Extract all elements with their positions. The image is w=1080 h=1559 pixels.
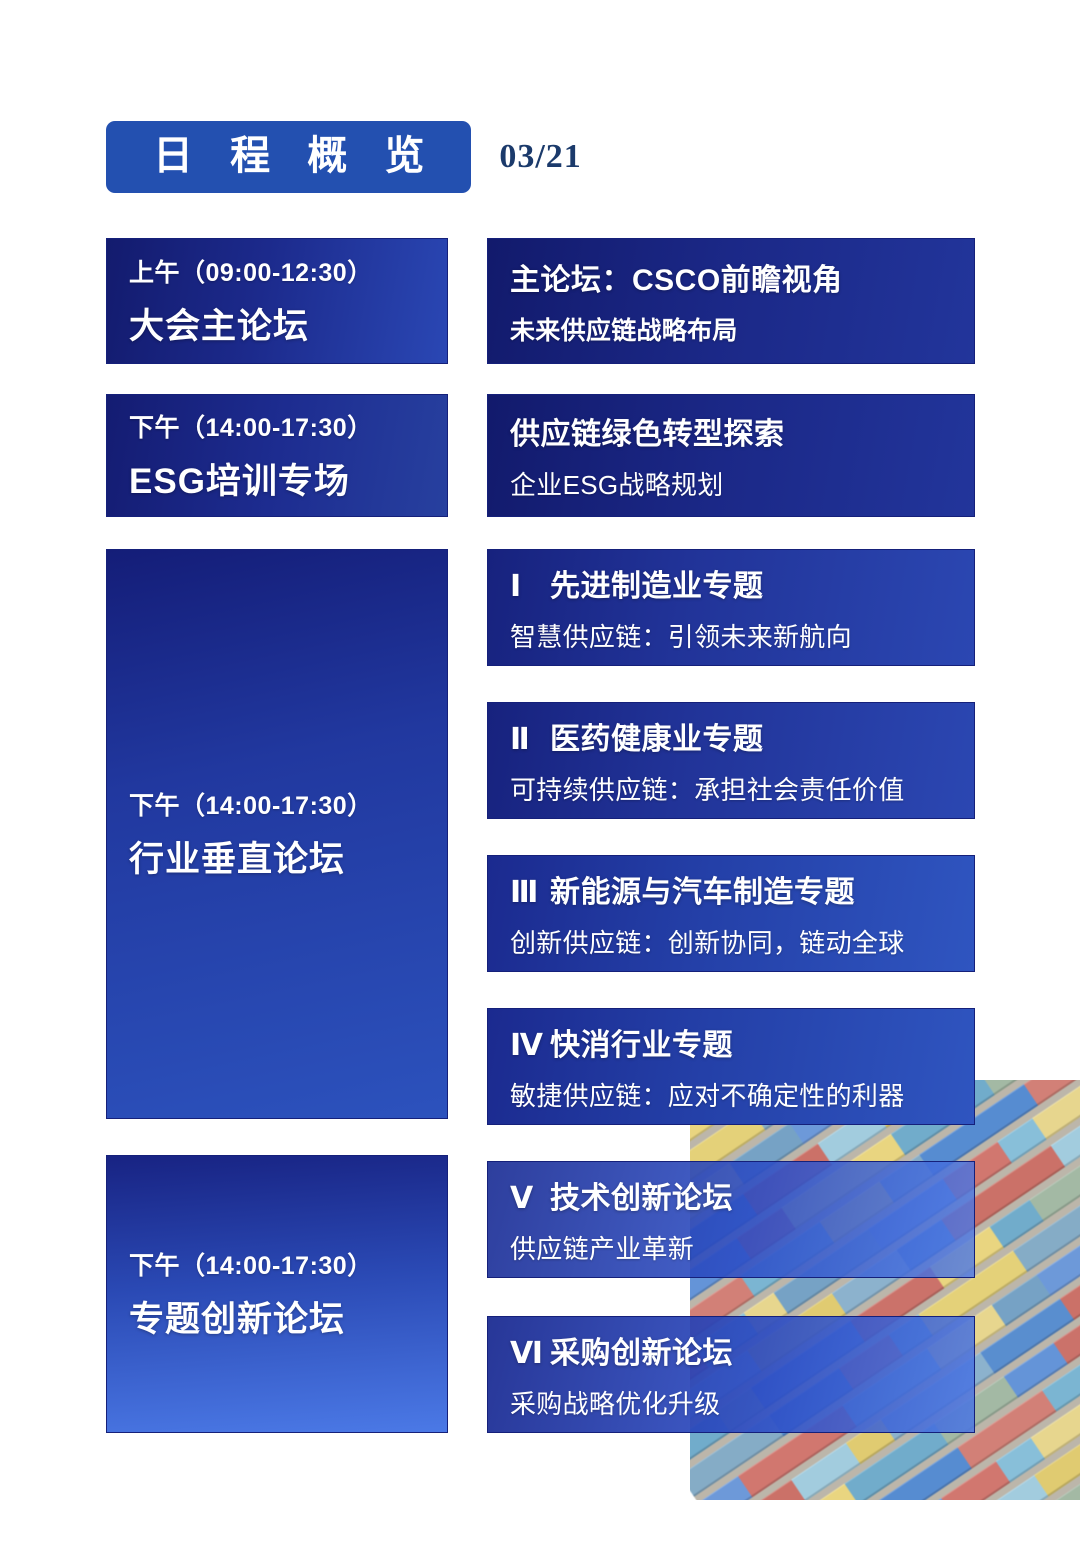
topic-title: Ⅰ先进制造业专题	[510, 561, 974, 605]
topic-title: Ⅲ新能源与汽车制造专题	[510, 867, 974, 911]
session-block-morning-main-forum[interactable]: 上午（09:00-12:30） 大会主论坛	[106, 238, 448, 364]
topic-title-text: 技术创新论坛	[550, 1182, 733, 1215]
session-time: 下午（14:00-17:30）	[129, 1246, 447, 1282]
topic-card-green-transformation[interactable]: 供应链绿色转型探索 企业ESG战略规划	[487, 394, 975, 517]
session-time: 上午（09:00-12:30）	[129, 253, 447, 289]
topic-title: Ⅳ快消行业专题	[510, 1020, 974, 1064]
topic-title: 主论坛：CSCO前瞻视角	[510, 255, 974, 299]
session-block-special-innovation-forum[interactable]: 下午（14:00-17:30） 专题创新论坛	[106, 1155, 448, 1433]
session-block-esg-training[interactable]: 下午（14:00-17:30） 行业垂直论坛 ESG培训专场	[106, 394, 448, 517]
session-time: 下午（14:00-17:30）	[129, 786, 447, 822]
topic-title: Ⅱ医药健康业专题	[510, 714, 974, 758]
topic-subtitle: 未来供应链战略布局	[510, 311, 974, 347]
topic-title-text: 快消行业专题	[550, 1029, 733, 1062]
session-name: 行业垂直论坛	[129, 831, 447, 882]
topic-subtitle: 智慧供应链：引领未来新航向	[510, 617, 974, 654]
topic-card-pharma-health[interactable]: Ⅱ医药健康业专题 可持续供应链：承担社会责任价值	[487, 702, 975, 819]
page-header: 日 程 概 览 03/21	[106, 121, 582, 193]
topic-card-fmcg[interactable]: Ⅳ快消行业专题 敏捷供应链：应对不确定性的利器	[487, 1008, 975, 1125]
topic-subtitle: 创新供应链：创新协同，链动全球	[510, 923, 974, 960]
agenda-board: 上午（09:00-12:30） 大会主论坛 下午（14:00-17:30） 行业…	[0, 0, 1080, 1559]
topic-card-new-energy-auto[interactable]: Ⅲ新能源与汽车制造专题 创新供应链：创新协同，链动全球	[487, 855, 975, 972]
topic-title: Ⅵ采购创新论坛	[510, 1328, 974, 1372]
session-name: 专题创新论坛	[129, 1291, 447, 1342]
topic-card-advanced-manufacturing[interactable]: Ⅰ先进制造业专题 智慧供应链：引领未来新航向	[487, 549, 975, 666]
topic-title-text: 采购创新论坛	[550, 1337, 733, 1370]
topic-title-text: 新能源与汽车制造专题	[550, 876, 855, 909]
topic-title-text: 先进制造业专题	[550, 570, 764, 603]
topic-card-procurement-innovation[interactable]: Ⅵ采购创新论坛 采购战略优化升级	[487, 1316, 975, 1433]
topic-number: Ⅱ	[510, 722, 544, 757]
topic-subtitle: 采购战略优化升级	[510, 1384, 974, 1421]
topic-subtitle: 企业ESG战略规划	[510, 465, 974, 502]
topic-title-text: 医药健康业专题	[550, 723, 764, 756]
topic-number: Ⅳ	[510, 1028, 544, 1063]
topic-number: Ⅲ	[510, 875, 544, 910]
header-date: 03/21	[499, 138, 581, 176]
topic-subtitle: 可持续供应链：承担社会责任价值	[510, 770, 974, 807]
page-title: 日 程 概 览	[106, 121, 471, 193]
topic-title: 供应链绿色转型探索	[510, 409, 974, 453]
topic-number: Ⅵ	[510, 1336, 544, 1371]
topic-subtitle: 供应链产业革新	[510, 1229, 974, 1266]
topic-subtitle: 敏捷供应链：应对不确定性的利器	[510, 1076, 974, 1113]
topic-number: Ⅰ	[510, 569, 544, 604]
session-time: 下午（14:00-17:30）	[129, 408, 447, 444]
session-name: ESG培训专场	[129, 453, 447, 504]
topic-title: Ⅴ技术创新论坛	[510, 1173, 974, 1217]
topic-card-main-forum[interactable]: 主论坛：CSCO前瞻视角 未来供应链战略布局	[487, 238, 975, 364]
session-block-industry-vertical-forum[interactable]: 下午（14:00-17:30） 行业垂直论坛	[106, 549, 448, 1119]
session-name: 大会主论坛	[129, 298, 447, 349]
topic-card-tech-innovation[interactable]: Ⅴ技术创新论坛 供应链产业革新	[487, 1161, 975, 1278]
topic-number: Ⅴ	[510, 1181, 544, 1216]
